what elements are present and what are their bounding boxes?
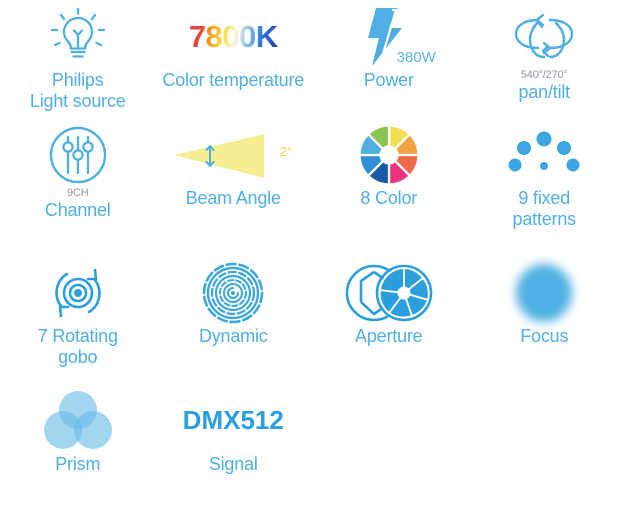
aperture-iris-icon <box>341 262 437 324</box>
channel-sliders-icon <box>46 124 110 186</box>
spec-item-beam-angle: 2° Beam Angle <box>156 118 312 256</box>
product-spec-grid: Philips Light source 7800K Color tempera… <box>0 0 622 510</box>
spec-label-rotating-gobo: 7 Rotating gobo <box>38 326 118 368</box>
spec-sub-pan-tilt: 540°/270° <box>521 69 568 81</box>
spec-item-dynamic: Dynamic <box>156 256 312 386</box>
spec-label-8-color: 8 Color <box>360 188 417 209</box>
spec-item-color-temperature: 7800K Color temperature <box>156 0 312 118</box>
spec-label-light-source: Philips Light source <box>30 70 126 112</box>
spec-item-pan-tilt: 540°/270° pan/tilt <box>467 0 622 118</box>
spec-label-prism: Prism <box>55 454 100 475</box>
spec-item-aperture: Aperture <box>311 256 467 386</box>
spec-value-power: 380W <box>397 50 436 66</box>
spec-label-color-temperature: Color temperature <box>162 70 304 91</box>
pan-tilt-rotation-icon <box>508 6 580 68</box>
rotating-gobo-icon <box>47 262 109 324</box>
light-bulb-icon <box>43 6 113 68</box>
spec-grid-empty-cell-1 <box>311 386 467 510</box>
prism-circles-icon <box>42 388 114 452</box>
color-wheel-icon <box>357 124 421 186</box>
dynamic-spiral-icon <box>202 262 264 324</box>
spec-item-channel: 9CH Channel <box>0 118 156 256</box>
spec-label-line2: gobo <box>38 347 118 368</box>
spec-label-focus: Focus <box>520 326 568 347</box>
spec-label-dynamic: Dynamic <box>199 326 268 347</box>
dmx-signal-text: DMX512 <box>183 388 284 452</box>
spec-value-color-temperature: 7800K <box>189 19 278 55</box>
beam-angle-cone-icon <box>168 126 298 184</box>
spec-label-aperture: Aperture <box>355 326 422 347</box>
spec-item-light-source: Philips Light source <box>0 0 156 118</box>
spec-label-line2: patterns <box>513 209 576 230</box>
spec-label-fixed-patterns: 9 fixed patterns <box>513 188 576 230</box>
spec-item-fixed-patterns: 9 fixed patterns <box>467 118 622 256</box>
spec-item-rotating-gobo: 7 Rotating gobo <box>0 256 156 386</box>
spec-label-beam-angle: Beam Angle <box>186 188 281 209</box>
spec-label-power: Power <box>364 70 414 91</box>
spec-item-signal: DMX512 Signal <box>156 386 312 510</box>
spec-sub-channel: 9CH <box>67 187 88 199</box>
spec-label-line1: 7 Rotating <box>38 326 118 347</box>
spec-grid-empty-cell-2 <box>467 386 622 510</box>
spec-item-prism: Prism <box>0 386 156 510</box>
spec-value-beam-angle: 2° <box>280 145 292 159</box>
fixed-patterns-dots-icon <box>507 124 581 186</box>
spec-label-pan-tilt: pan/tilt <box>519 82 570 103</box>
spec-label-channel: Channel <box>45 200 111 221</box>
spec-label-line2: Light source <box>30 91 126 112</box>
spec-label-signal: Signal <box>209 454 258 475</box>
spec-label-line1: Philips <box>30 70 126 91</box>
focus-blur-dot-icon <box>516 264 572 322</box>
spec-item-power: 380W Power <box>311 0 467 118</box>
spec-value-signal: DMX512 <box>183 405 284 435</box>
color-temperature-text: 7800K <box>189 6 278 68</box>
spec-item-8-color: 8 Color <box>311 118 467 256</box>
spec-label-line1: 9 fixed <box>513 188 576 209</box>
spec-item-focus: Focus <box>467 256 622 386</box>
